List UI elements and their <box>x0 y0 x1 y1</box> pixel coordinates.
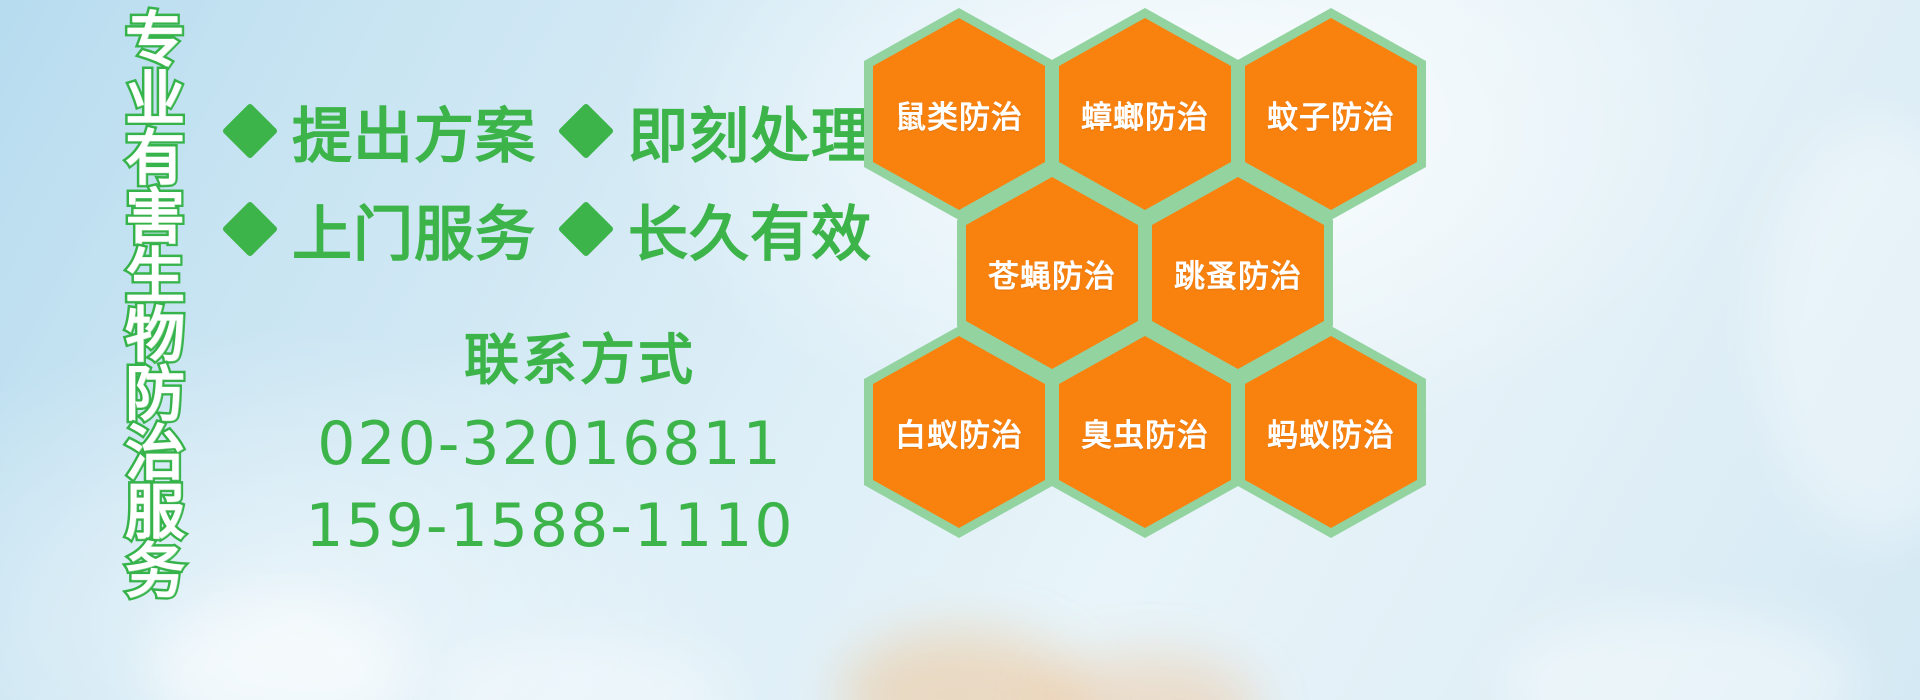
vertical-headline-char: 害 <box>125 189 185 248</box>
bokeh-blob <box>1500 610 1860 700</box>
vertical-headline-char: 服 <box>125 484 185 543</box>
feature-row: 上门服务 长久有效 <box>230 180 870 278</box>
feature-label: 长久有效 <box>628 186 872 273</box>
feature-item: 提出方案 <box>230 88 536 175</box>
feature-list: 提出方案 即刻处理 上门服务 长久有效 <box>230 82 870 278</box>
bokeh-blob <box>840 630 1080 700</box>
bokeh-blob <box>1760 120 1920 540</box>
service-hex-ant[interactable]: 蚂蚁防治 <box>1236 326 1426 538</box>
service-label: 臭虫防治 <box>1081 410 1209 455</box>
vertical-headline-char: 物 <box>125 307 185 366</box>
hexagon-fill: 白蚁防治 <box>873 336 1045 528</box>
hexagon-fill: 蚂蚁防治 <box>1245 336 1417 528</box>
service-honeycomb: 鼠类防治 蟑螂防治 蚊子防治 苍蝇防治 <box>860 0 1460 580</box>
landline-phone-number[interactable]: 020-32016811 <box>230 409 870 479</box>
feature-label: 即刻处理 <box>628 88 872 175</box>
vertical-headline: 专 业 有 害 生 物 防 治 服 务 <box>103 12 207 552</box>
bokeh-blob <box>150 600 410 700</box>
service-label: 苍蝇防治 <box>988 251 1116 296</box>
vertical-headline-char: 业 <box>125 71 185 130</box>
vertical-headline-char: 防 <box>125 366 185 425</box>
diamond-bullet-icon <box>558 201 615 258</box>
diamond-bullet-icon <box>558 103 615 160</box>
hexagon-border: 白蚁防治 <box>864 326 1054 538</box>
hexagon-border: 臭虫防治 <box>1050 326 1240 538</box>
mobile-phone-number[interactable]: 159-1588-1110 <box>230 491 870 561</box>
feature-label: 提出方案 <box>292 88 536 175</box>
feature-item: 上门服务 <box>230 186 536 273</box>
feature-item: 即刻处理 <box>566 88 872 175</box>
service-hex-bedbug[interactable]: 臭虫防治 <box>1050 326 1240 538</box>
promo-banner: 专 业 有 害 生 物 防 治 服 务 提出方案 即刻处理 上门服务 <box>0 0 1920 700</box>
feature-label: 上门服务 <box>292 186 536 273</box>
feature-row: 提出方案 即刻处理 <box>230 82 870 180</box>
bokeh-blob <box>430 640 730 700</box>
vertical-headline-char: 治 <box>125 425 185 484</box>
contact-label: 联系方式 <box>290 315 870 395</box>
service-label: 跳蚤防治 <box>1174 251 1302 296</box>
hexagon-border: 蚂蚁防治 <box>1236 326 1426 538</box>
hexagon-fill: 臭虫防治 <box>1059 336 1231 528</box>
service-label: 蚂蚁防治 <box>1267 410 1395 455</box>
bokeh-blob <box>1040 655 1260 700</box>
feature-item: 长久有效 <box>566 186 872 273</box>
vertical-headline-char: 专 <box>125 12 185 71</box>
vertical-headline-char: 务 <box>125 543 185 602</box>
diamond-bullet-icon <box>222 201 279 258</box>
service-hex-termite[interactable]: 白蚁防治 <box>864 326 1054 538</box>
service-label: 蟑螂防治 <box>1081 92 1209 137</box>
diamond-bullet-icon <box>222 103 279 160</box>
service-label: 白蚁防治 <box>895 410 1023 455</box>
contact-block: 联系方式 020-32016811 159-1588-1110 <box>230 315 870 561</box>
service-label: 蚊子防治 <box>1267 92 1395 137</box>
service-label: 鼠类防治 <box>895 92 1023 137</box>
vertical-headline-char: 生 <box>125 248 185 307</box>
vertical-headline-char: 有 <box>125 130 185 189</box>
